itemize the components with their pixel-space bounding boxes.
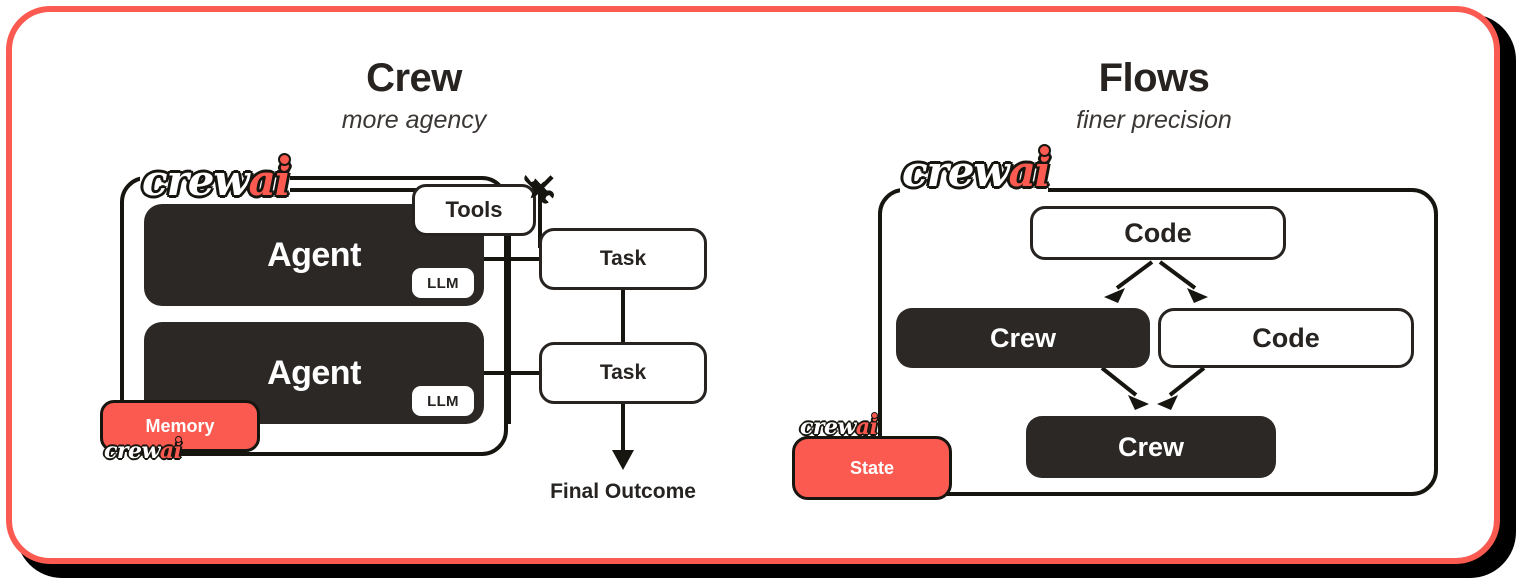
crewai-logo-flows: crewai [902, 151, 1050, 193]
crewai-logo-dot [278, 153, 291, 166]
llm-pill: LLM [412, 386, 474, 416]
agent-label: Agent [267, 236, 361, 275]
final-outcome-label: Final Outcome [503, 480, 743, 504]
flows-node-code-1[interactable]: Code [1030, 206, 1286, 260]
crewai-logo-dot [1038, 144, 1051, 157]
llm-pill: LLM [412, 268, 474, 298]
task-box-2[interactable]: Task [539, 342, 707, 404]
crewai-logo-crew-text: crew [142, 156, 249, 205]
flows-panel-title: Flows [954, 56, 1354, 101]
flows-panel-subtitle: finer precision [954, 106, 1354, 135]
flows-node-crew-a[interactable]: Crew [896, 308, 1150, 368]
task-box-1[interactable]: Task [539, 228, 707, 290]
tools-wrench-screwdriver-icon [517, 172, 557, 212]
crewai-logo-crew-text: crew [800, 414, 856, 440]
crewai-logo-state: crewai [800, 416, 878, 438]
crewai-logo-memory: crewai [104, 440, 182, 462]
crewai-logo-crew-text: crew [104, 438, 160, 464]
crewai-logo-dot [871, 412, 878, 419]
flows-node-code-2[interactable]: Code [1158, 308, 1414, 368]
crewai-logo-crew-text: crew [902, 147, 1009, 196]
diagram-card: Crew more agency Agent LLM Agent LLM Too… [6, 6, 1500, 564]
flows-node-crew-b[interactable]: Crew [1026, 416, 1276, 478]
crew-panel-title: Crew [214, 56, 614, 101]
agent-label: Agent [267, 354, 361, 393]
crew-panel-subtitle: more agency [214, 106, 614, 135]
crewai-logo-crew: crewai [142, 160, 290, 202]
crewai-logo-dot [175, 436, 182, 443]
state-box[interactable]: State [792, 436, 952, 500]
